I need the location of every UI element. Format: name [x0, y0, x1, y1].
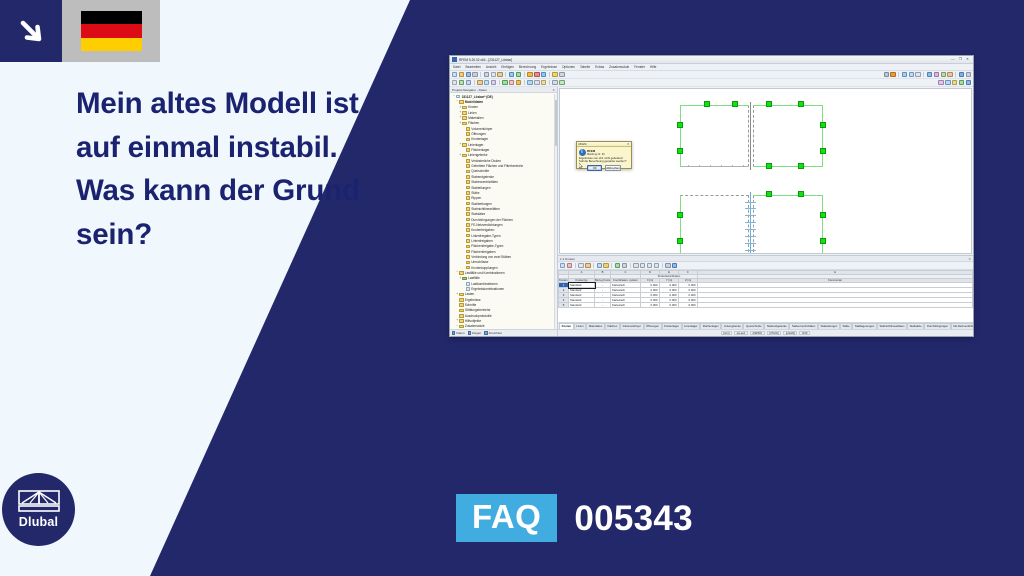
tree-item-label: Lasten	[465, 292, 474, 296]
node-support[interactable]	[732, 101, 738, 107]
mouse-cursor-icon	[579, 163, 583, 169]
window-controls: — ❐ ✕	[951, 58, 971, 62]
tree-item-label: Volumenkörper	[471, 127, 492, 131]
status-cell: ASPRO	[750, 331, 765, 336]
cell-typ[interactable]: Standard	[569, 303, 595, 308]
tree-item-label: Stabbettungen	[471, 202, 491, 206]
folder-icon	[462, 111, 466, 115]
tree-item-label: Materialien	[468, 116, 483, 120]
dialog-close-icon[interactable]: ✕	[627, 142, 630, 146]
toolbar-icon-undo[interactable]	[509, 72, 514, 77]
node-support[interactable]	[677, 122, 683, 128]
dialog-title: RFEM	[579, 142, 587, 146]
table-icon-filter[interactable]	[603, 263, 608, 268]
sheet-tab[interactable]: Stabsätze	[907, 323, 924, 328]
toolbar2-icon-info[interactable]	[966, 80, 971, 85]
mesh-tick	[745, 236, 756, 237]
app-icon	[452, 57, 457, 62]
node-support[interactable]	[704, 101, 710, 107]
tree-item-label: Lastkombinationen	[471, 282, 497, 286]
toolbar2-icon-section[interactable]	[952, 80, 957, 85]
toolbar-icon-cut[interactable]	[484, 72, 489, 77]
table-icon-last[interactable]	[654, 263, 659, 268]
column-header: Koordinaten- system	[611, 279, 641, 283]
table-icon-copy[interactable]	[578, 263, 583, 268]
dimension-tick	[688, 165, 689, 167]
toolbar-icon-zoom-all[interactable]	[902, 72, 907, 77]
tree-items-container: −Modelldaten+Knoten+Linien+Materialien+F…	[451, 99, 557, 329]
toolbar2-icon-member[interactable]	[477, 80, 482, 85]
cell-z[interactable]: 0.000	[679, 303, 698, 308]
folder-icon	[466, 261, 470, 265]
toolbar-icon-zoom-window[interactable]	[909, 72, 914, 77]
tree-item-label: Gebettete Flächen und Filterbereiche	[471, 164, 523, 168]
folder-icon	[466, 223, 470, 227]
toolbar-icon-save[interactable]	[466, 72, 471, 77]
folder-icon	[466, 287, 470, 291]
nodes-table: ABCDEFG Knotenkoordinaten Knoten Nr.Knot…	[558, 270, 973, 308]
table-icon-new-row[interactable]	[560, 263, 565, 268]
toolbar-icon-view-xy[interactable]	[934, 72, 939, 77]
sheet-tab[interactable]: Stäbe	[840, 323, 852, 328]
folder-icon	[466, 180, 470, 184]
tree-item-label: Modelldaten	[465, 100, 483, 104]
table-icon-help[interactable]	[672, 263, 677, 268]
folder-icon	[466, 255, 470, 259]
maximize-icon[interactable]: ❐	[959, 58, 962, 62]
table-icon-print[interactable]	[622, 263, 627, 268]
node-support[interactable]	[820, 148, 826, 154]
navigator-close-icon[interactable]: ✕	[552, 88, 555, 92]
cell-no[interactable]: 5	[559, 303, 569, 308]
toolbar-icon-open[interactable]	[459, 72, 464, 77]
table-title: 1.1 Knoten	[560, 257, 575, 261]
toolbar2-icon-snap[interactable]	[541, 80, 546, 85]
table-icon-next[interactable]	[647, 263, 652, 268]
menu-item-datei[interactable]: Datei	[453, 65, 460, 69]
tree-item-label: Stabsätze	[471, 212, 485, 216]
menu-item-ergebnisse[interactable]: Ergebnisse	[541, 65, 557, 69]
toolbar2-icon-node[interactable]	[459, 80, 464, 85]
sheet-tab[interactable]: Durchdringungen	[924, 323, 950, 328]
dimension-tick	[743, 165, 744, 167]
tree-item-label: Ergebniskombinationen	[471, 287, 504, 291]
folder-icon	[466, 164, 470, 168]
tree-root-label: 231127_Lösbar* (DE)	[462, 95, 493, 99]
toolbar2-icon-surface[interactable]	[484, 80, 489, 85]
table-icon-delete-row[interactable]	[567, 263, 572, 268]
dlubal-wordmark: Dlubal	[19, 515, 58, 529]
folder-icon	[466, 202, 470, 206]
folder-icon	[466, 212, 470, 216]
menu-item-fenster[interactable]: Fenster	[634, 65, 645, 69]
main-right-pane: RFEM ✕ i RFEM Meldung Nr. 30 Ergebnisse …	[558, 87, 973, 336]
navigator-tab-label: Zeigen	[472, 331, 481, 335]
tree-item-label: Knotenfreigaben	[471, 228, 494, 232]
cell-kommentar[interactable]	[698, 303, 973, 308]
node-support[interactable]	[798, 163, 804, 169]
folder-icon	[466, 159, 470, 163]
message-dialog[interactable]: RFEM ✕ i RFEM Meldung Nr. 30 Ergebnisse …	[576, 141, 632, 169]
menu-item-bearbeiten[interactable]: Bearbeiten	[465, 65, 480, 69]
show-tab-icon	[468, 331, 471, 334]
model-canvas[interactable]: RFEM ✕ i RFEM Meldung Nr. 30 Ergebnisse …	[559, 88, 972, 254]
dialog-buttons: OK Abbrechen	[577, 164, 631, 172]
table-icon-settings[interactable]	[665, 263, 670, 268]
tree-item-label: Schnitte	[465, 303, 476, 307]
menu-item-einfuegen[interactable]: Einfügen	[501, 65, 514, 69]
toolbar2-icon-dimension[interactable]	[534, 80, 539, 85]
shared-edge-top	[750, 102, 751, 170]
panel-edge-top-left-left	[680, 105, 681, 167]
sheet-tab[interactable]: Volumenkörper	[620, 323, 644, 328]
panel-edge-bottom-right-right	[822, 195, 823, 254]
toolbar2-icon-filter[interactable]	[938, 80, 943, 85]
dialog-subheading: Meldung Nr. 30	[587, 153, 630, 156]
tree-item-label: Querschnitte	[471, 169, 489, 173]
table-icon-first[interactable]	[633, 263, 638, 268]
column-header: Knoten Nr.	[559, 279, 569, 283]
german-flag-icon	[81, 11, 142, 51]
toolbar-icon-color[interactable]	[890, 72, 895, 77]
tree-item-label: Glättungsbereiche	[465, 308, 491, 312]
tree-item-label: Stabexzentrizitäten	[471, 180, 498, 184]
node-support[interactable]	[766, 163, 772, 169]
tree-item-label: Linien	[468, 111, 476, 115]
folder-icon	[462, 106, 466, 110]
toolbar-icon-print[interactable]	[472, 72, 477, 77]
sheet-tab[interactable]: Flächenlager	[700, 323, 721, 328]
node-support[interactable]	[820, 122, 826, 128]
table-icon-export[interactable]	[615, 263, 620, 268]
cell-bezug[interactable]: -	[595, 303, 611, 308]
node-support[interactable]	[677, 238, 683, 244]
status-cell: [LGAN]	[783, 331, 797, 336]
minimize-icon[interactable]: —	[951, 58, 955, 62]
menu-item-ansicht[interactable]: Ansicht	[486, 65, 496, 69]
sheet-tab[interactable]: Materialien	[586, 323, 605, 328]
folder-icon	[466, 127, 470, 131]
toolbar2-icon-solid[interactable]	[491, 80, 496, 85]
toolbar-icon-render[interactable]	[541, 72, 546, 77]
folder-icon	[459, 303, 463, 307]
toolbar-icon-viewmode[interactable]	[884, 72, 889, 77]
dimension-tick	[732, 165, 733, 167]
cell-y[interactable]: 0.000	[660, 303, 679, 308]
toolbar-icon-pan[interactable]	[915, 72, 920, 77]
status-cell: sw-text	[734, 331, 748, 336]
folder-icon	[466, 191, 470, 195]
folder-icon	[466, 186, 470, 190]
menu-item-extras[interactable]: Extras	[595, 65, 604, 69]
node-support[interactable]	[798, 191, 804, 197]
folder-icon	[466, 132, 470, 136]
menu-item-hilfe[interactable]: Hilfe	[650, 65, 656, 69]
dialog-cancel-button[interactable]: Abbrechen	[605, 165, 621, 171]
tree-item-label: Stabnichtlinearitäten	[471, 207, 499, 211]
folder-icon	[466, 207, 470, 211]
panel-outline-top-right	[753, 105, 823, 167]
folder-icon	[466, 250, 470, 254]
table-row[interactable]: 5Standard-Kartesisch0.0000.0000.000	[559, 303, 973, 308]
panel-edge-top-right-top	[753, 105, 823, 106]
data-tab-icon	[452, 331, 455, 334]
dialog-ok-button[interactable]: OK	[587, 165, 602, 171]
folder-icon	[459, 100, 463, 104]
table-icon-paste[interactable]	[585, 263, 590, 268]
info-icon: i	[579, 149, 586, 156]
status-bar: [mm]sw-textASPRO[VSUG][LGAN]GVF	[558, 329, 973, 336]
folder-icon	[462, 143, 466, 147]
sheet-tab[interactable]: Stabexzentrizitäten	[789, 323, 818, 328]
sheet-tab[interactable]: Stabteilungen	[818, 323, 840, 328]
toolbar2-icon-layer[interactable]	[559, 80, 564, 85]
toolbar2-icon-line[interactable]	[466, 80, 471, 85]
tree-item-label: Flächenlager	[471, 148, 489, 152]
rfem-application-window: RFEM 5.20.02 x64 - [231127_Lösbar] — ❐ ✕…	[449, 55, 974, 337]
tree-item-label: Flächenfreigabe-Typen	[471, 244, 503, 248]
panel-outline-bottom-left	[680, 195, 749, 254]
panel-outline-top-left	[680, 105, 749, 167]
folder-icon	[462, 154, 466, 158]
toolbar-icon-photo[interactable]	[552, 72, 557, 77]
window-titlebar: RFEM 5.20.02 x64 - [231127_Lösbar] — ❐ ✕	[450, 56, 973, 64]
folder-icon	[466, 170, 470, 174]
folder-icon	[459, 314, 463, 318]
tree-item-label: Flächenfreigaben	[471, 250, 495, 254]
toolbar-primary	[450, 71, 973, 79]
folder-icon	[459, 271, 463, 275]
views-tab-icon	[484, 331, 487, 334]
folder-icon	[462, 122, 466, 126]
sheet-tab[interactable]: Stablagerungen	[852, 323, 877, 328]
table-toolbar	[558, 262, 973, 270]
toolbar-icon-new[interactable]	[452, 72, 457, 77]
dlubal-truss-icon	[18, 490, 60, 514]
toolbar2-icon-support[interactable]	[502, 80, 507, 85]
headline-text: Mein altes Modell ist auf einmal instabi…	[76, 82, 456, 257]
node-support[interactable]	[820, 212, 826, 218]
window-body: Projekt-Navigator - Daten ✕ − 231127_Lös…	[450, 87, 973, 336]
table-sheet-tabs: KnotenLinienMaterialienFlächenVolumenkör…	[558, 322, 973, 329]
sheet-tab[interactable]: Flächen	[605, 323, 620, 328]
navigator-tab-daten[interactable]: Daten	[452, 331, 465, 335]
navigator-tab-label: Daten	[456, 331, 464, 335]
navigator-tab-label: Ansichten	[489, 331, 502, 335]
folder-icon	[459, 293, 463, 297]
sheet-tab[interactable]: Liniengelenke	[721, 323, 743, 328]
menu-bar: Datei Bearbeiten Ansicht Einfügen Berech…	[450, 64, 973, 71]
sheet-tab[interactable]: Knoten	[559, 323, 574, 328]
folder-icon	[466, 228, 470, 232]
toolbar-icon-settings[interactable]	[966, 72, 971, 77]
folder-icon	[466, 196, 470, 200]
dimension-line-top	[682, 166, 748, 167]
toolbar-icon-printpreview[interactable]	[559, 72, 564, 77]
tree-item-label: Ausdruckprotokolle	[465, 314, 492, 318]
language-flag-badge	[62, 0, 160, 62]
toolbar-icon-rotate[interactable]	[927, 72, 932, 77]
toolbar-icon-results[interactable]	[534, 72, 539, 77]
tree-item-label: Linienfreigaben	[471, 239, 492, 243]
tree-item-label: Knotenkopplungen	[471, 266, 497, 270]
table-panel: 1.1 Knoten ✕	[558, 255, 973, 329]
table-icon-sort[interactable]	[597, 263, 602, 268]
navigator-tree[interactable]: − 231127_Lösbar* (DE) −Modelldaten+Knote…	[450, 93, 557, 329]
mesh-tick	[745, 215, 756, 216]
folder-icon	[466, 138, 470, 142]
sheet-tab[interactable]: Linien	[574, 323, 587, 328]
close-icon[interactable]: ✕	[966, 58, 969, 62]
faq-number: 005343	[574, 501, 693, 536]
menu-item-berechnung[interactable]: Berechnung	[519, 65, 536, 69]
node-support[interactable]	[766, 101, 772, 107]
mesh-tick	[745, 229, 756, 230]
table-close-icon[interactable]: ✕	[968, 257, 971, 261]
sheet-tab[interactable]: Stabendgelenke	[764, 323, 789, 328]
panel-edge-bottom-right-top	[753, 195, 823, 196]
toolbar2-icon-select[interactable]	[452, 80, 457, 85]
model-file-icon	[456, 95, 460, 99]
toolbar-secondary	[450, 79, 973, 87]
dimension-tick	[699, 165, 700, 167]
node-support[interactable]	[766, 253, 772, 254]
window-title: RFEM 5.20.02 x64 - [231127_Lösbar]	[459, 58, 512, 62]
sheet-tab[interactable]: Stabnichtlinearitäten	[877, 323, 907, 328]
faq-footer: FAQ 005343	[456, 494, 693, 542]
tree-item-label: Öffnungen	[471, 132, 486, 136]
folder-icon	[466, 175, 470, 179]
arrow-down-right-icon	[16, 16, 46, 46]
toolbar-icon-view-yz[interactable]	[947, 72, 952, 77]
node-support[interactable]	[677, 212, 683, 218]
tree-item-label: Liniengelenke	[468, 153, 487, 157]
tree-item-label: Stäbe	[471, 191, 479, 195]
toolbar-icon-redo[interactable]	[516, 72, 521, 77]
sheet-tab[interactable]: FE-Netzverdichtungen	[951, 323, 973, 328]
folder-icon	[466, 148, 470, 152]
tree-item-label: FE-Netzverdichtungen	[471, 223, 502, 227]
mesh-tick	[745, 208, 756, 209]
tree-item-label: Knoten	[468, 105, 478, 109]
panel-edge-top-right-right	[822, 105, 823, 167]
toolbar2-icon-load[interactable]	[516, 80, 521, 85]
dialog-body-text: Ergebnisse von LF1 nicht gefunden! Soll …	[577, 157, 631, 164]
node-support[interactable]	[798, 253, 804, 254]
tree-item-label: Stabteilungen	[471, 186, 490, 190]
column-header: Bezug Knoten	[595, 279, 611, 283]
sheet-tab[interactable]: Öffnungen	[644, 323, 662, 328]
tree-item-label: Zusatzmodule	[465, 324, 485, 328]
dlubal-logo: Dlubal	[2, 473, 75, 546]
table-grid-wrapper[interactable]: ABCDEFG Knotenkoordinaten Knoten Nr.Knot…	[558, 270, 973, 322]
navigator-tab-zeigen[interactable]: Zeigen	[468, 331, 482, 335]
mesh-tick	[745, 202, 756, 203]
toolbar-icon-paste[interactable]	[497, 72, 502, 77]
tree-item-label: Linienlager	[468, 143, 483, 147]
folder-icon	[462, 116, 466, 120]
tree-item-label: Umschlüsse	[471, 260, 488, 264]
folder-icon	[466, 266, 470, 270]
cell-ks[interactable]: Kartesisch	[611, 303, 641, 308]
corner-arrow-badge	[0, 0, 62, 62]
sheet-tab[interactable]: Knotenlager	[662, 323, 682, 328]
dialog-text-block: RFEM Meldung Nr. 30	[587, 149, 630, 156]
node-support[interactable]	[820, 238, 826, 244]
navigator-tabs: Daten Zeigen Ansichten	[450, 329, 557, 336]
cell-x[interactable]: 0.000	[641, 303, 660, 308]
dimension-tick	[710, 165, 711, 167]
status-cell: GVF	[799, 331, 810, 336]
folder-icon	[466, 245, 470, 249]
menu-item-optionen[interactable]: Optionen	[562, 65, 575, 69]
node-support[interactable]	[766, 191, 772, 197]
node-support[interactable]	[798, 101, 804, 107]
project-navigator: Projekt-Navigator - Daten ✕ − 231127_Lös…	[450, 87, 558, 336]
tree-item-label: Stabendgelenke	[471, 175, 494, 179]
dialog-content: i RFEM Meldung Nr. 30	[577, 147, 631, 156]
folder-icon	[466, 239, 470, 243]
folder-icon	[459, 298, 463, 302]
toolbar-icon-copy[interactable]	[491, 72, 496, 77]
status-cell: [VSUG]	[767, 331, 782, 336]
folder-icon	[466, 218, 470, 222]
table-head: ABCDEFG Knotenkoordinaten Knoten Nr.Knot…	[559, 271, 973, 283]
tree-item-label: Durchdringungen der Flächen	[471, 218, 513, 222]
mesh-tick	[745, 250, 756, 251]
tree-item-label: Lastfälle	[468, 276, 480, 280]
toolbar2-icon-hinge[interactable]	[509, 80, 514, 85]
tree-item-label: Hilfsobjekte	[465, 319, 481, 323]
folder-icon	[466, 282, 470, 286]
toolbar2-icon-visibility[interactable]	[945, 80, 950, 85]
navigator-tab-ansichten[interactable]: Ansichten	[484, 331, 502, 335]
table-icon-prev[interactable]	[640, 263, 645, 268]
sheet-tab[interactable]: Querschnitte	[743, 323, 764, 328]
toolbar-icon-calculate[interactable]	[527, 72, 532, 77]
sheet-tab[interactable]: Linienlager	[682, 323, 701, 328]
menu-item-zusatzmodule[interactable]: Zusatzmodule	[609, 65, 629, 69]
tree-item-label: Rippen	[471, 196, 481, 200]
dimension-tick	[721, 165, 722, 167]
faq-label: FAQ	[456, 494, 557, 542]
panel-edge-top-right-bottom	[753, 166, 823, 167]
toolbar-icon-help[interactable]	[959, 72, 964, 77]
tree-item-label: Verbindung von zwei Stäben	[471, 255, 511, 259]
tree-item-label: Flächen	[468, 121, 479, 125]
navigator-scroll-thumb[interactable]	[555, 100, 557, 146]
toolbar-icon-view-xz[interactable]	[941, 72, 946, 77]
mesh-tick	[745, 222, 756, 223]
toolbar2-icon-deformation[interactable]	[959, 80, 964, 85]
node-support[interactable]	[677, 148, 683, 154]
tree-item-label: Veränderliche Dicken	[471, 159, 501, 163]
toolbar2-icon-mesh[interactable]	[527, 80, 532, 85]
navigator-scrollbar[interactable]	[554, 94, 557, 329]
folder-icon	[466, 234, 470, 238]
navigator-title: Projekt-Navigator - Daten	[452, 88, 487, 92]
tree-item-label: Ergebnisse	[465, 298, 481, 302]
folder-icon	[462, 277, 466, 281]
tree-item-label: Linienfreigabe-Typen	[471, 234, 500, 238]
tree-item-label: Lastfälle und Kombinationen	[465, 271, 505, 275]
toolbar2-icon-grid[interactable]	[552, 80, 557, 85]
panel-outline-bottom-right	[753, 195, 823, 254]
folder-icon	[459, 319, 463, 323]
folder-icon	[459, 325, 463, 329]
tree-item-label: Knotenlager	[471, 137, 488, 141]
menu-item-tabelle[interactable]: Tabelle	[580, 65, 590, 69]
